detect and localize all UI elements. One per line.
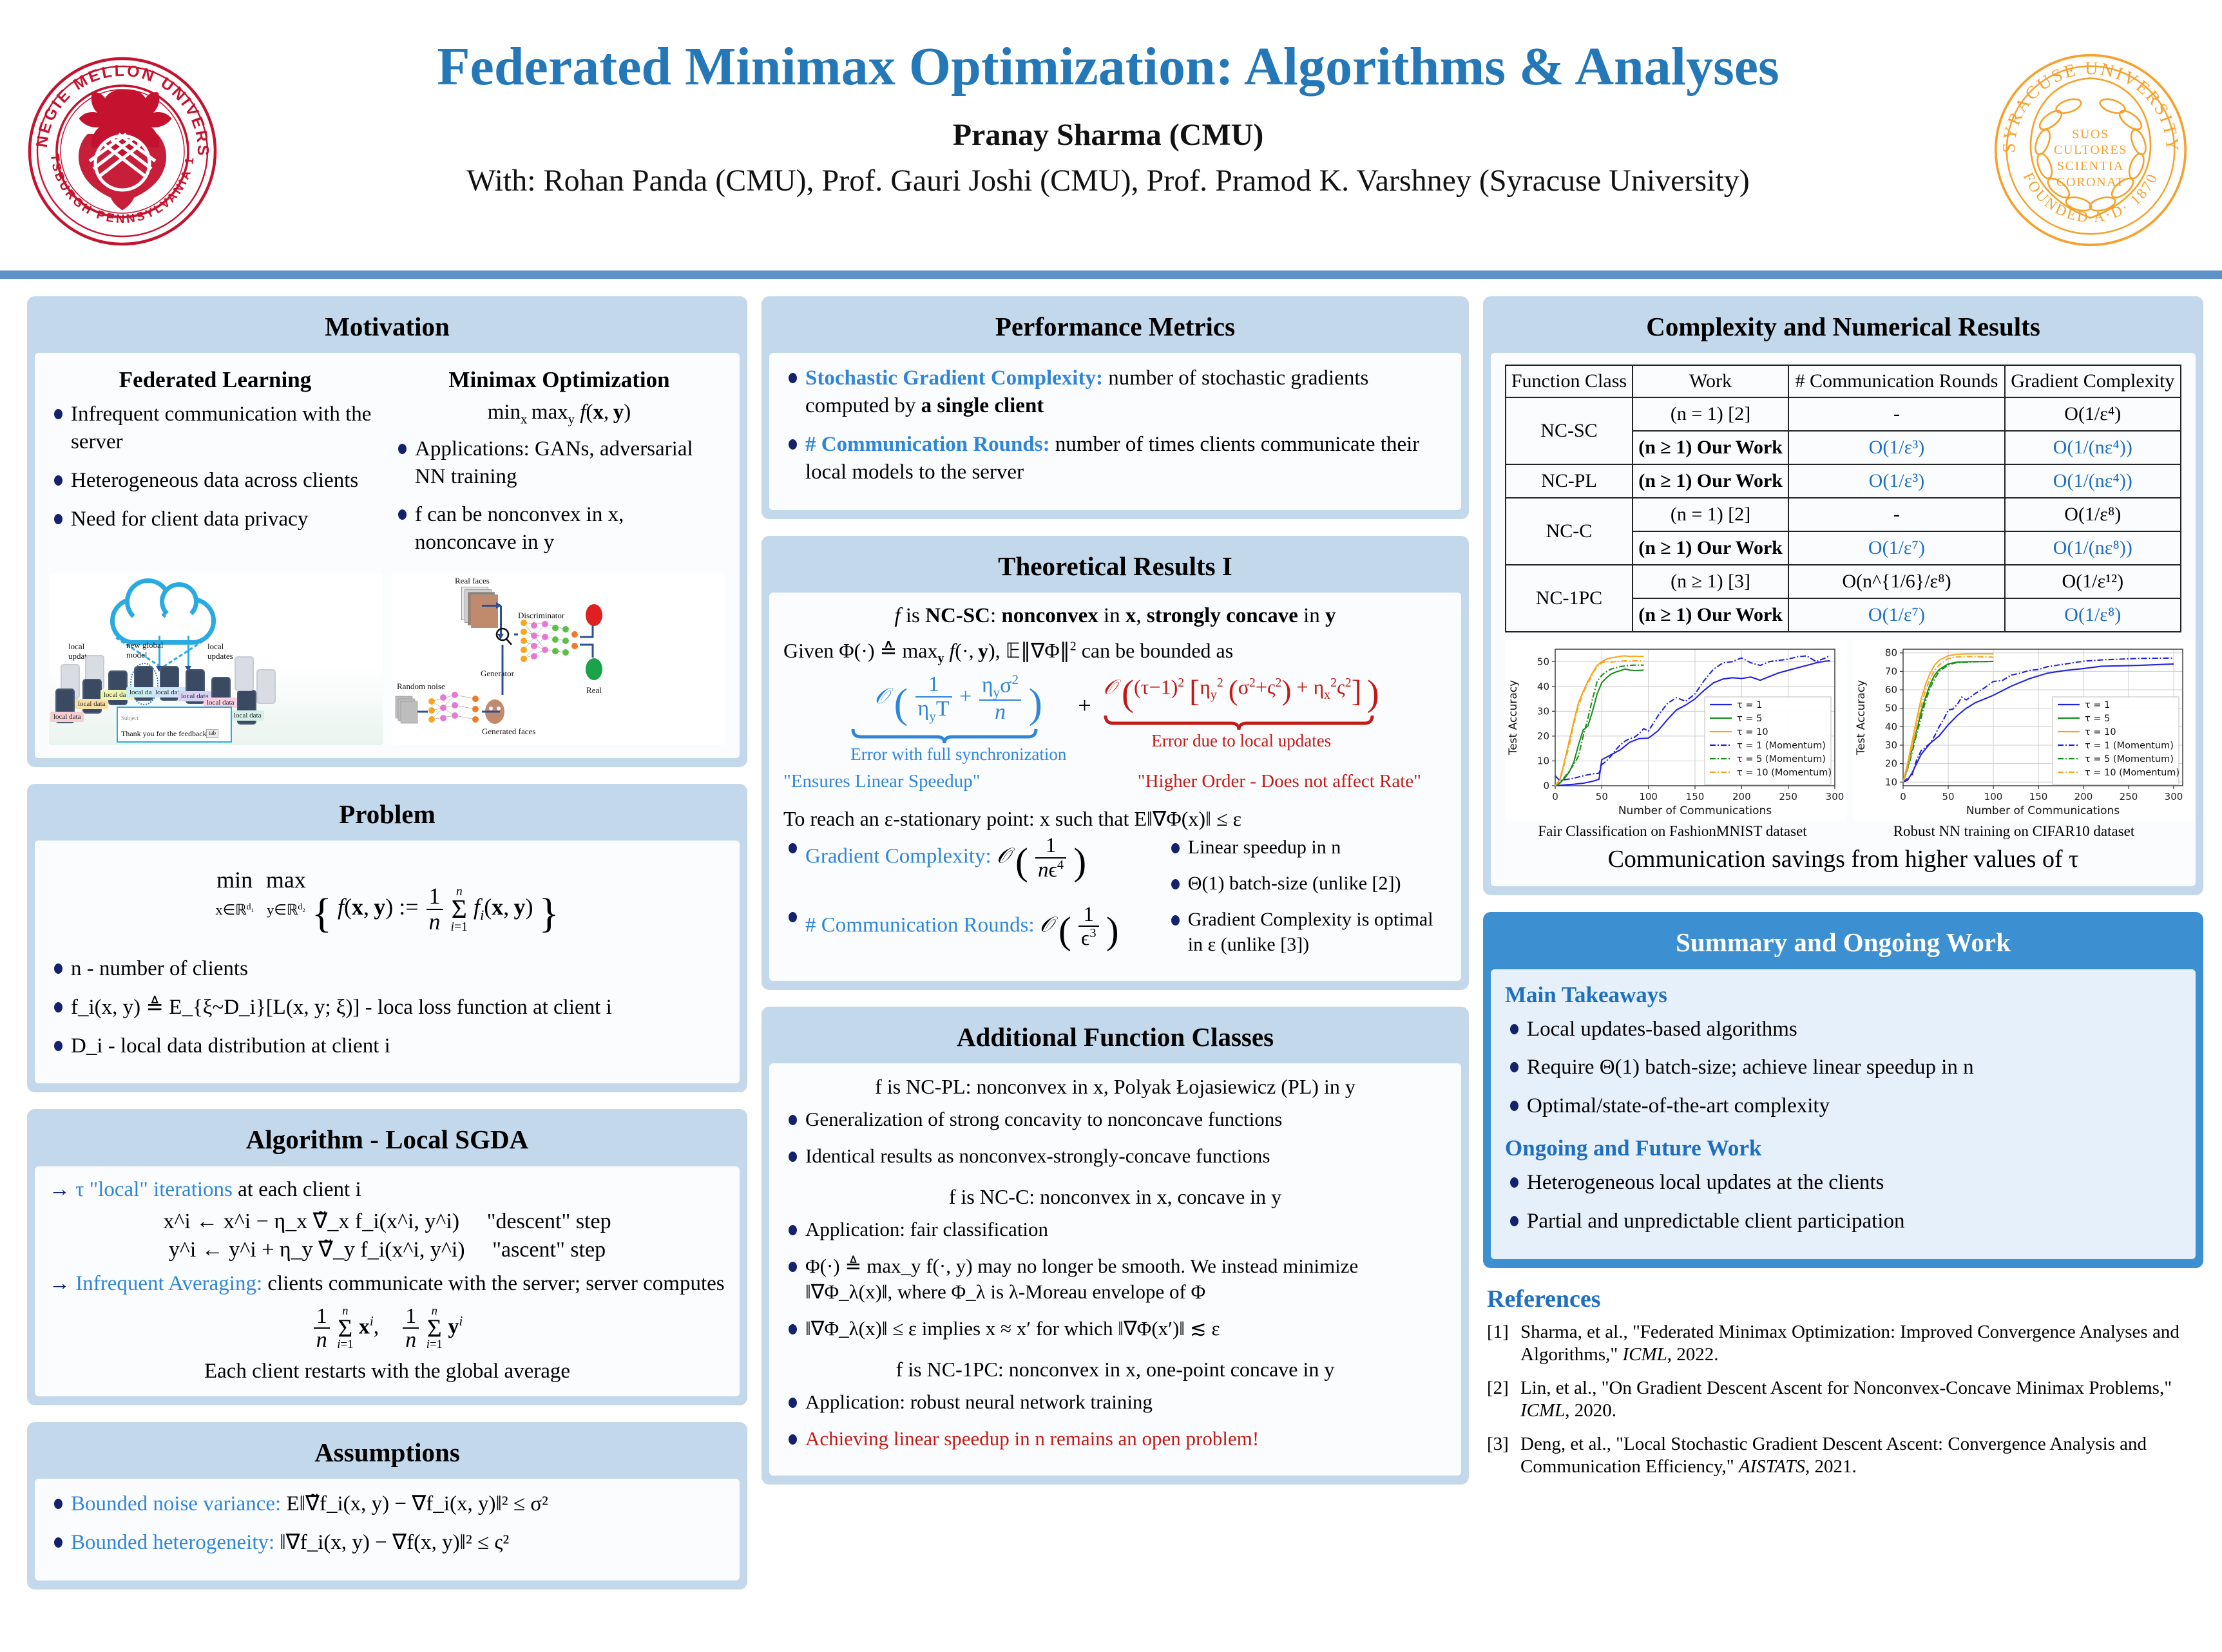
svg-text:50: 50	[1596, 791, 1608, 802]
bound-term-red: 𝒪 ((τ−1)2 [ηy2 (σ2+ς2) + ηx2ς2] ) Error …	[1103, 672, 1380, 751]
list-item: Applications: GANs, adversarial NN train…	[393, 435, 725, 491]
section-assumptions: Assumptions Bounded noise variance: E‖∇̃…	[27, 1422, 747, 1590]
column-header-work: Work	[1633, 365, 1788, 397]
svg-text:Test Accuracy: Test Accuracy	[1507, 680, 1520, 756]
cell-rounds: O(n^{1/6}/ε⁸)	[1788, 565, 2004, 598]
svg-text:τ = 1: τ = 1	[2085, 700, 2110, 710]
reference-year: , 2020.	[1565, 1400, 1616, 1421]
brace-blue-label: Error with full synchronization	[850, 745, 1066, 764]
list-item: # Communication Rounds: 𝒪 ( 1ϵ3 )	[783, 904, 1154, 956]
cell-rounds: O(1/ε³)	[1788, 431, 2004, 464]
cell-gradient: O(1/ε⁸)	[2005, 598, 2181, 632]
header-divider	[0, 271, 2222, 279]
cell-gradient: O(1/ε⁸)	[2005, 498, 2181, 531]
cell-work: (n ≥ 1) Our Work	[1633, 531, 1788, 565]
complexity-table: Function Class Work # Communication Roun…	[1505, 365, 2181, 632]
theoretical-results-title: Theoretical Results I	[769, 544, 1461, 593]
svg-text:100: 100	[1639, 791, 1658, 802]
charts-row: 05010015020025030001020304050Number of C…	[1505, 640, 2181, 821]
right-column: Complexity and Numerical Results Functio…	[1483, 296, 2203, 1488]
svg-text:250: 250	[1779, 791, 1797, 802]
nc-1pc-header: f is NC-1PC: nonconvex in x, one-point c…	[783, 1358, 1447, 1381]
cloud-icon	[110, 597, 216, 645]
svg-text:τ = 10 (Momentum): τ = 10 (Momentum)	[2085, 768, 2179, 778]
cell-rounds: -	[1788, 397, 2004, 431]
complexity-title: Complexity and Numerical Results	[1491, 304, 2196, 353]
svg-text:200: 200	[2074, 791, 2093, 802]
reference-number: [1]	[1487, 1321, 1520, 1367]
algorithm-line-2-rest: clients communicate with the server; ser…	[262, 1272, 725, 1295]
svg-text:30: 30	[1885, 739, 1897, 751]
list-item: Linear speedup in n	[1166, 835, 1447, 860]
svg-text:τ = 1 (Momentum): τ = 1 (Momentum)	[2085, 741, 2174, 751]
list-item: Optimal/state-of-the-art complexity	[1505, 1092, 2181, 1120]
section-references: References [1] Sharma, et al., "Federate…	[1483, 1285, 2203, 1478]
cell-work: (n = 1) [2]	[1633, 498, 1788, 531]
new-global-model-label: new global model	[126, 641, 166, 660]
svg-text:τ = 1 (Momentum): τ = 1 (Momentum)	[1737, 741, 1826, 751]
column-header-gradient-complexity: Gradient Complexity	[2005, 365, 2181, 397]
cell-rounds: O(1/ε³)	[1788, 464, 2004, 498]
bound-decomposition: 𝒪 ( 1ηyT + ηyσ2n ) Error with full synch…	[783, 672, 1447, 764]
page-title: Federated Minimax Optimization: Algorith…	[245, 39, 1971, 95]
collaborators: With: Rohan Panda (CMU), Prof. Gauri Jos…	[245, 163, 1971, 198]
motivation-figures: local updates new global model local upd…	[49, 573, 725, 745]
cell-function-class: NC-1PC	[1506, 565, 1633, 632]
cell-work: (n ≥ 1) Our Work	[1633, 431, 1788, 464]
list-item: n - number of clients	[49, 955, 725, 983]
reference-item: [2] Lin, et al., "On Gradient Descent As…	[1487, 1377, 2199, 1423]
list-item: Require Θ(1) batch-size; achieve linear …	[1505, 1054, 2181, 1081]
assumption-math: E‖∇̃f_i(x, y) − ∇f_i(x, y)‖² ≤ σ²	[286, 1492, 548, 1515]
svg-text:0: 0	[1543, 780, 1549, 792]
ongoing-work-list: Heterogeneous local updates at the clien…	[1505, 1169, 2181, 1235]
svg-text:CORONAT: CORONAT	[2056, 175, 2125, 189]
problem-list: n - number of clients f_i(x, y) ≜ E_{ξ~D…	[49, 955, 725, 1060]
svg-text:20: 20	[1537, 730, 1549, 742]
svg-text:250: 250	[2120, 791, 2138, 802]
results-notes-list: Linear speedup in n Θ(1) batch-size (unl…	[1166, 835, 1447, 957]
reference-number: [3]	[1487, 1433, 1520, 1479]
cell-rounds: -	[1788, 498, 2004, 531]
cell-rounds: O(1/ε⁷)	[1788, 531, 2004, 565]
list-item: Local updates-based algorithms	[1505, 1016, 2181, 1043]
nc-c-list: Application: fair classification Φ(·) ≜ …	[783, 1217, 1447, 1342]
svg-text:200: 200	[1732, 791, 1751, 802]
syracuse-university-seal-icon: SYRACUSE UNIVERSITY FOUNDED A·D· 1870	[1991, 50, 2190, 250]
complexity-label: # Communication Rounds:	[805, 913, 1035, 936]
chart-fashionmnist: 05010015020025030001020304050Number of C…	[1505, 640, 1846, 821]
motivation-title: Motivation	[35, 304, 740, 353]
chart-caption-right: Robust NN training on CIFAR10 dataset	[1846, 823, 2181, 840]
results-complexity-list: Gradient Complexity: 𝒪 ( 1nϵ4 ) # Commun…	[783, 835, 1154, 956]
list-item: Bounded heterogeneity: ‖∇f_i(x, y) − ∇f(…	[49, 1529, 725, 1557]
section-algorithm: Algorithm - Local SGDA → τ "local" itera…	[27, 1109, 747, 1405]
section-motivation: Motivation Federated Learning Infrequent…	[27, 296, 747, 767]
svg-text:Number of Communications: Number of Communications	[1618, 804, 1772, 817]
cell-work: (n ≥ 1) [3]	[1633, 565, 1788, 598]
results-two-col: Gradient Complexity: 𝒪 ( 1nϵ4 ) # Commun…	[783, 835, 1447, 968]
table-header-row: Function Class Work # Communication Roun…	[1506, 365, 2181, 397]
brace-red-label: Error due to local updates	[1103, 731, 1380, 751]
performance-metrics-list: Stochastic Gradient Complexity: number o…	[783, 365, 1447, 486]
svg-text:50: 50	[1942, 791, 1954, 802]
cell-gradient: O(1/ε¹²)	[2005, 565, 2181, 598]
column-header-communication-rounds: # Communication Rounds	[1788, 365, 2004, 397]
list-item: Application: fair classification	[783, 1217, 1447, 1242]
cell-gradient: O(1/(nε⁸))	[2005, 531, 2181, 565]
brace-red-icon	[1103, 714, 1380, 731]
svg-text:20: 20	[1885, 758, 1897, 770]
ascent-step-row: y^i ← y^i + η_y ∇̃_y f_i(x^i, y^i) "asce…	[49, 1237, 725, 1262]
list-item: ‖∇Φ_λ(x)‖ ≤ ε implies x ≈ x′ for which ‖…	[783, 1316, 1447, 1342]
list-item: Application: robust neural network train…	[783, 1389, 1447, 1415]
gan-network-graphic	[392, 573, 617, 745]
algorithm-line-2-accent: Infrequent Averaging:	[75, 1272, 262, 1295]
reference-item: [1] Sharma, et al., "Federated Minimax O…	[1487, 1321, 2199, 1367]
svg-text:τ = 5: τ = 5	[1737, 714, 1762, 724]
minimax-heading: Minimax Optimization	[393, 367, 725, 393]
plus-sign: +	[1078, 672, 1091, 719]
svg-text:70: 70	[1885, 666, 1897, 678]
section-problem: Problem minx∈ℝd1 maxy∈ℝd2 { f(x, y) := 1…	[27, 784, 747, 1092]
table-row: NC-1PC (n ≥ 1) [3] O(n^{1/6}/ε⁸) O(1/ε¹²…	[1506, 565, 2181, 598]
left-column: Motivation Federated Learning Infrequent…	[27, 296, 747, 1606]
svg-text:0: 0	[1900, 791, 1906, 802]
ascent-step-label: "ascent" step	[492, 1238, 606, 1262]
main-takeaways-list: Local updates-based algorithms Require Θ…	[1505, 1016, 2181, 1121]
reference-body: Lin, et al., "On Gradient Descent Ascent…	[1520, 1378, 2172, 1398]
algorithm-line-1-accent: τ "local" iterations	[75, 1178, 233, 1201]
algorithm-closing: Each client restarts with the global ave…	[49, 1360, 725, 1383]
list-item: f_i(x, y) ≜ E_{ξ~D_i}[L(x, y; ξ)] - loca…	[49, 994, 725, 1021]
svg-text:50: 50	[1885, 703, 1897, 714]
svg-text:τ = 5 (Momentum): τ = 5 (Momentum)	[2085, 754, 2174, 764]
svg-text:SCIENTIA: SCIENTIA	[2057, 159, 2124, 173]
svg-text:Number of Communications: Number of Communications	[1966, 804, 2120, 817]
list-item: Generalization of strong concavity to no…	[783, 1106, 1447, 1132]
svg-text:150: 150	[1686, 791, 1705, 802]
federated-learning-diagram: local updates new global model local upd…	[49, 573, 383, 745]
metric-label: # Communication Rounds:	[805, 433, 1050, 456]
summary-title: Summary and Ongoing Work	[1491, 920, 2196, 969]
reference-number: [2]	[1487, 1377, 1520, 1423]
svg-text:100: 100	[1984, 791, 2003, 802]
svg-text:τ = 5 (Momentum): τ = 5 (Momentum)	[1737, 754, 1826, 764]
ongoing-work-heading: Ongoing and Future Work	[1505, 1135, 2181, 1161]
poster-root: CARNEGIE MELLON UNIVERSITY PITTSBURGH PE…	[0, 0, 2222, 1652]
reference-body: Sharma, et al., "Federated Minimax Optim…	[1520, 1322, 2179, 1365]
carnegie-mellon-university-seal-icon: CARNEGIE MELLON UNIVERSITY PITTSBURGH PE…	[26, 55, 219, 248]
stationary-point-line: To reach an ε-stationary point: x such t…	[783, 806, 1447, 831]
minimax-formula: minx maxy f(x, y)	[393, 401, 725, 428]
nc-sc-class-line: f is NC-SC: nonconvex in x, strongly con…	[783, 604, 1447, 628]
list-item: # Communication Rounds: number of times …	[783, 431, 1447, 486]
nc-pl-header: f is NC-PL: nonconvex in x, Polyak Łojas…	[783, 1075, 1447, 1099]
assumption-math: ‖∇f_i(x, y) − ∇f(x, y)‖² ≤ ς²	[280, 1531, 509, 1554]
svg-text:CULTORES: CULTORES	[2054, 143, 2127, 157]
svg-text:τ = 10 (Momentum): τ = 10 (Momentum)	[1737, 768, 1832, 778]
note-blue: "Ensures Linear Speedup"	[783, 771, 981, 792]
svg-text:10: 10	[1885, 777, 1897, 788]
assumption-label: Bounded noise variance:	[71, 1492, 281, 1515]
list-item: Partial and unpredictable client partici…	[1505, 1208, 2181, 1235]
cell-work: (n ≥ 1) Our Work	[1633, 598, 1788, 632]
nc-pl-list: Generalization of strong concavity to no…	[783, 1106, 1447, 1170]
chart-caption-left: Fair Classification on FashionMNIST data…	[1505, 823, 1840, 840]
minimax-optimization-block: Minimax Optimization minx maxy f(x, y) A…	[393, 365, 725, 567]
cell-work: (n = 1) [2]	[1633, 397, 1788, 431]
svg-text:0: 0	[1552, 791, 1558, 802]
ascent-step-equation: y^i ← y^i + η_y ∇̃_y f_i(x^i, y^i)	[169, 1238, 465, 1262]
averaging-equation: 1n nΣi=1 xi, 1n nΣi=1 yi	[49, 1305, 725, 1352]
references-heading: References	[1487, 1285, 2199, 1313]
federated-learning-block: Federated Learning Infrequent communicat…	[49, 365, 381, 567]
tab-key-badge: tab	[206, 729, 218, 738]
svg-text:30: 30	[1537, 706, 1549, 717]
cell-work: (n ≥ 1) Our Work	[1633, 464, 1788, 498]
results-right-col: Linear speedup in n Θ(1) batch-size (unl…	[1166, 835, 1447, 968]
bound-term-blue: 𝒪 ( 1ηyT + ηyσ2n ) Error with full synch…	[850, 672, 1066, 764]
list-item: Heterogeneous local updates at the clien…	[1505, 1169, 2181, 1197]
chart-cifar10: 0501001502002503001020304050607080Number…	[1853, 640, 2194, 821]
section-additional-function-classes: Additional Function Classes f is NC-PL: …	[761, 1007, 1469, 1485]
cell-rounds: O(1/ε⁷)	[1788, 598, 2004, 632]
brace-blue-icon	[850, 728, 1044, 745]
list-item: Stochastic Gradient Complexity: number o…	[783, 365, 1447, 420]
svg-text:Test Accuracy: Test Accuracy	[1855, 680, 1868, 756]
performance-metrics-title: Performance Metrics	[769, 304, 1461, 353]
svg-text:50: 50	[1537, 656, 1549, 668]
cell-gradient: O(1/ε⁴)	[2005, 397, 2181, 431]
minimax-list: Applications: GANs, adversarial NN train…	[393, 435, 725, 557]
reference-year: , 2022.	[1667, 1344, 1719, 1365]
section-complexity: Complexity and Numerical Results Functio…	[1483, 296, 2203, 895]
descent-step-equation: x^i ← x^i − η_x ∇̃_x f_i(x^i, y^i)	[163, 1210, 459, 1233]
cell-gradient: O(1/(nε⁴))	[2005, 464, 2181, 498]
algorithm-line-2: → Infrequent Averaging: clients communic…	[49, 1270, 725, 1297]
list-item: Gradient Complexity is optimal in ε (unl…	[1166, 907, 1447, 957]
table-row: NC-SC (n = 1) [2] - O(1/ε⁴)	[1506, 397, 2181, 431]
assumption-label: Bounded heterogeneity:	[71, 1531, 274, 1554]
reference-text: Sharma, et al., "Federated Minimax Optim…	[1520, 1321, 2199, 1367]
problem-equation: minx∈ℝd1 maxy∈ℝd2 { f(x, y) := 1n nΣi=1 …	[49, 866, 725, 938]
descent-step-row: x^i ← x^i − η_x ∇̃_x f_i(x^i, y^i) "desc…	[49, 1208, 725, 1234]
note-red: "Higher Order - Does not affect Rate"	[1138, 771, 1421, 792]
svg-text:300: 300	[2165, 791, 2183, 802]
mail-subject-label: Subject	[121, 716, 139, 722]
section-summary: Summary and Ongoing Work Main Takeaways …	[1483, 912, 2203, 1268]
cell-function-class: NC-SC	[1506, 397, 1633, 464]
table-row: NC-PL (n ≥ 1) Our Work O(1/ε³) O(1/(nε⁴)…	[1506, 464, 2181, 498]
algorithm-title: Algorithm - Local SGDA	[35, 1117, 740, 1166]
svg-text:80: 80	[1885, 647, 1897, 659]
svg-text:SUOS: SUOS	[2072, 127, 2109, 141]
cell-function-class: NC-C	[1506, 498, 1633, 565]
assumptions-list: Bounded noise variance: E‖∇̃f_i(x, y) − …	[49, 1490, 725, 1557]
main-takeaways-heading: Main Takeaways	[1505, 982, 2181, 1008]
gan-diagram: Real faces Discriminator Generator Rando…	[392, 573, 725, 745]
complexity-label: Gradient Complexity:	[805, 845, 991, 868]
nc-c-header: f is NC-C: nonconvex in x, concave in y	[783, 1185, 1447, 1209]
svg-text:300: 300	[1826, 791, 1844, 802]
svg-text:60: 60	[1885, 685, 1897, 696]
list-item: f can be nonconvex in x, nonconcave in y	[393, 501, 725, 556]
additional-classes-title: Additional Function Classes	[769, 1014, 1461, 1063]
federated-learning-heading: Federated Learning	[49, 367, 381, 393]
cell-gradient: O(1/(nε⁴))	[2005, 431, 2181, 464]
mail-body-text: Thank you for the feedback	[121, 730, 207, 738]
list-item: Bounded noise variance: E‖∇̃f_i(x, y) − …	[49, 1490, 725, 1518]
list-item: Heterogeneous data across clients	[49, 467, 381, 495]
list-item: D_i - local data distribution at client …	[49, 1032, 725, 1060]
reference-item: [3] Deng, et al., "Local Stochastic Grad…	[1487, 1433, 2199, 1479]
given-line: Given Φ(·) ≙ maxy f(·, y), 𝔼∥∇Φ∥2 can be…	[783, 638, 1447, 666]
svg-text:150: 150	[2029, 791, 2048, 802]
metric-bold-tail: a single client	[921, 394, 1044, 417]
svg-text:τ = 10: τ = 10	[2085, 727, 2116, 737]
svg-text:40: 40	[1537, 681, 1549, 692]
section-performance-metrics: Performance Metrics Stochastic Gradient …	[761, 296, 1469, 519]
algorithm-line-1: → τ "local" iterations at each client i	[49, 1178, 725, 1202]
reference-venue: AISTATS	[1739, 1456, 1805, 1477]
algorithm-line-1-rest: at each client i	[233, 1178, 361, 1201]
section-theoretical-results: Theoretical Results I f is NC-SC: noncon…	[761, 536, 1469, 990]
svg-text:τ = 1: τ = 1	[1737, 700, 1762, 710]
list-item: Φ(·) ≜ max_y f(·, y) may no longer be sm…	[783, 1253, 1447, 1305]
results-left-col: Gradient Complexity: 𝒪 ( 1nϵ4 ) # Commun…	[783, 835, 1154, 967]
column-header-function-class: Function Class	[1506, 365, 1633, 397]
svg-text:40: 40	[1885, 721, 1897, 733]
svg-text:τ = 10: τ = 10	[1737, 727, 1768, 737]
nc-1pc-list: Application: robust neural network train…	[783, 1389, 1447, 1452]
reference-text: Lin, et al., "On Gradient Descent Ascent…	[1520, 1377, 2199, 1423]
reference-year: , 2021.	[1805, 1456, 1857, 1477]
list-item: Gradient Complexity: 𝒪 ( 1nϵ4 )	[783, 835, 1154, 887]
list-item-open-problem: Achieving linear speedup in n remains an…	[783, 1426, 1447, 1452]
problem-title: Problem	[35, 792, 740, 840]
poster-header: CARNEGIE MELLON UNIVERSITY PITTSBURGH PE…	[0, 0, 2222, 274]
federated-learning-list: Infrequent communication with the server…	[49, 401, 381, 533]
reference-venue: ICML	[1622, 1344, 1667, 1365]
cell-function-class: NC-PL	[1506, 464, 1633, 498]
assumptions-title: Assumptions	[35, 1430, 740, 1479]
middle-column: Performance Metrics Stochastic Gradient …	[761, 296, 1469, 1501]
descent-step-label: "descent" step	[487, 1210, 611, 1233]
list-item: Need for client data privacy	[49, 506, 381, 533]
author-name: Pranay Sharma (CMU)	[245, 117, 1971, 153]
list-item: Θ(1) batch-size (unlike [2])	[1166, 871, 1447, 896]
svg-text:τ = 5: τ = 5	[2085, 714, 2110, 724]
svg-text:10: 10	[1537, 755, 1549, 767]
reference-text: Deng, et al., "Local Stochastic Gradient…	[1520, 1433, 2199, 1479]
title-block: Federated Minimax Optimization: Algorith…	[245, 39, 1971, 198]
reference-venue: ICML	[1520, 1400, 1565, 1421]
metric-label: Stochastic Gradient Complexity:	[805, 366, 1103, 390]
bound-notes: "Ensures Linear Speedup" "Higher Order -…	[783, 771, 1447, 792]
table-row: NC-C (n = 1) [2] - O(1/ε⁸)	[1506, 498, 2181, 531]
charts-main-caption: Communication savings from higher values…	[1505, 845, 2181, 873]
list-item: Identical results as nonconvex-strongly-…	[783, 1143, 1447, 1169]
list-item: Infrequent communication with the server	[49, 401, 381, 456]
